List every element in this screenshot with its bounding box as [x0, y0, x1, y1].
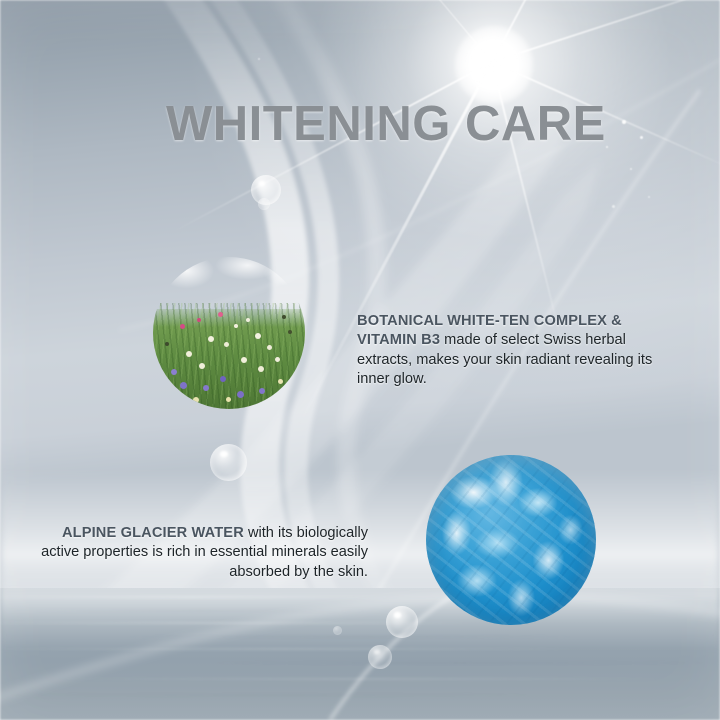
- water-bubble: [210, 444, 247, 481]
- flower-dark: [288, 330, 292, 334]
- feature-heading-glacier: ALPINE GLACIER WATER: [62, 525, 244, 541]
- flower-purple: [237, 391, 244, 398]
- flower-pink: [180, 324, 185, 329]
- sparkle: [648, 196, 650, 198]
- flower-purple: [220, 376, 226, 382]
- water-bubble: [368, 645, 392, 669]
- flower-white: [208, 336, 214, 342]
- flower-purple: [203, 385, 209, 391]
- flower-white: [258, 366, 264, 372]
- water-bubble: [386, 606, 418, 638]
- flower-purple: [259, 388, 265, 394]
- flower-yellow: [226, 397, 231, 402]
- sparkle: [612, 205, 615, 208]
- water-bubble: [333, 626, 342, 635]
- sparkle: [640, 136, 643, 139]
- flower-white: [234, 324, 238, 328]
- flower-white: [241, 357, 247, 363]
- sparkle: [606, 146, 608, 148]
- feature-text-botanical: BOTANICAL WHITE-TEN COMPLEX & VITAMIN B3…: [357, 312, 657, 390]
- flower-white: [199, 363, 205, 369]
- flower-dark: [282, 315, 286, 319]
- flower-white: [275, 357, 280, 362]
- sparkle: [622, 120, 626, 124]
- feature-text-glacier: ALPINE GLACIER WATER with its biological…: [28, 524, 368, 583]
- glacier-ice-image: [426, 455, 596, 625]
- water-ripple: [40, 678, 680, 680]
- sun-core-icon: [455, 26, 533, 104]
- flower-purple: [180, 382, 187, 389]
- sparkle: [630, 168, 632, 170]
- flower-white: [224, 342, 229, 347]
- flower-white: [267, 345, 272, 350]
- meadow-flowers: [153, 257, 305, 409]
- flower-white: [186, 351, 192, 357]
- flower-dark: [165, 342, 169, 346]
- page-title: WHITENING CARE: [166, 96, 606, 152]
- flower-yellow: [278, 379, 283, 384]
- water-bubble: [258, 198, 270, 210]
- sparkle: [258, 58, 260, 60]
- flower-pink: [218, 312, 223, 317]
- flower-pink: [197, 318, 201, 322]
- water-ripple: [200, 662, 720, 664]
- ice-rim-shadow: [426, 455, 596, 625]
- whitening-care-banner: WHITENING CARE BOTANICAL WHITE-TEN COMPL…: [0, 0, 720, 720]
- water-ripple: [0, 694, 550, 696]
- flower-white: [255, 333, 261, 339]
- flower-yellow: [193, 397, 199, 403]
- flower-purple: [171, 369, 177, 375]
- botanical-meadow-image: [153, 257, 305, 409]
- flower-white: [246, 318, 250, 322]
